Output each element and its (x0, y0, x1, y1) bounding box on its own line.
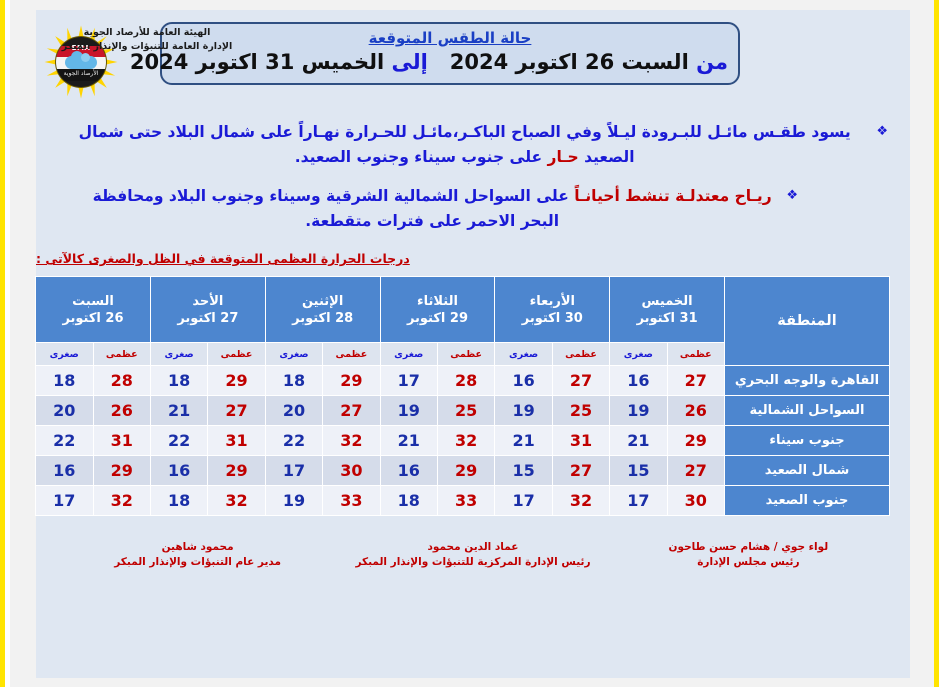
max-temp-cell: 27 (668, 456, 724, 485)
min-temp-cell: 18 (36, 366, 93, 395)
header-sub-min-2: صغرى (381, 343, 437, 365)
header-day-date: 29 اكتوبر (381, 310, 495, 327)
organization-line2: الإدارة العامة للتنبؤات والإنذار المبكر (52, 40, 242, 54)
header-day-weekday: الأحد (151, 293, 265, 310)
max-temp-cell: 29 (438, 456, 494, 485)
max-temp-cell: 26 (94, 396, 150, 425)
max-temp-cell: 28 (94, 366, 150, 395)
header-sub-max-4: عظمى (208, 343, 264, 365)
min-temp-cell: 18 (381, 486, 437, 515)
max-temp-cell: 33 (438, 486, 494, 515)
organization-line1: الهيئة العامة للأرصاد الجوية (52, 26, 242, 40)
max-temp-cell: 32 (438, 426, 494, 455)
table-head: المنطقة الخميس31 اكتوبرالأربعاء30 اكتوبر… (36, 277, 889, 365)
header-day-date: 27 اكتوبر (151, 310, 265, 327)
region-cell: القاهرة والوجه البحري (725, 366, 889, 395)
weather-bulletin-page: EMA الأرصاد الجوية حالة الطقس المتوقعة م… (0, 0, 939, 687)
min-temp-cell: 17 (36, 486, 93, 515)
from-label: من (696, 50, 728, 74)
header-day-date: 30 اكتوبر (495, 310, 609, 327)
max-temp-cell: 27 (323, 396, 379, 425)
header-day-weekday: الأربعاء (495, 293, 609, 310)
min-temp-cell: 20 (266, 396, 322, 425)
header-sub-max-1: عظمى (553, 343, 609, 365)
header-day-weekday: الثلاثاء (381, 293, 495, 310)
max-temp-cell: 29 (208, 366, 264, 395)
header-sub-min-4: صغرى (151, 343, 207, 365)
max-temp-cell: 32 (208, 486, 264, 515)
header-sub-max-0: عظمى (668, 343, 724, 365)
min-temp-cell: 18 (151, 486, 207, 515)
temperature-table: المنطقة الخميس31 اكتوبرالأربعاء30 اكتوبر… (35, 276, 890, 516)
min-temp-cell: 16 (151, 456, 207, 485)
signature-block: عماد الدين محمود رئيس الإدارة المركزية ل… (337, 540, 608, 570)
min-temp-cell: 21 (610, 426, 666, 455)
max-temp-cell: 30 (668, 486, 724, 515)
forecast-bullets: ❖ يسود طقـس مائـل للبـرودة ليـلاً وفي ال… (36, 114, 910, 234)
min-temp-cell: 15 (495, 456, 551, 485)
min-temp-cell: 21 (381, 426, 437, 455)
header-sub-max-2: عظمى (438, 343, 494, 365)
table-row: جنوب سيناء292131213221322231223122 (36, 426, 889, 455)
signature-block: محمود شاهين مدير عام التنبؤات والإنذار ا… (62, 540, 333, 570)
header-sub-min-5: صغرى (36, 343, 93, 365)
header-day-0: الخميس31 اكتوبر (610, 277, 724, 342)
min-temp-cell: 21 (495, 426, 551, 455)
header-day-1: الأربعاء30 اكتوبر (495, 277, 609, 342)
bullet-marker-icon: ❖ (876, 120, 888, 144)
header-sub-min-0: صغرى (610, 343, 666, 365)
region-cell: جنوب الصعيد (725, 486, 889, 515)
min-temp-cell: 22 (36, 426, 93, 455)
header-sub-min-3: صغرى (266, 343, 322, 365)
signature-name: محمود شاهين (62, 540, 333, 555)
min-temp-cell: 21 (151, 396, 207, 425)
max-temp-cell: 29 (208, 456, 264, 485)
max-temp-cell: 31 (208, 426, 264, 455)
min-temp-cell: 19 (381, 396, 437, 425)
bullet-text: يسود طقـس مائـل للبـرودة ليـلاً وفي الصب… (58, 120, 871, 170)
max-temp-cell: 27 (668, 366, 724, 395)
signature-block: لواء جوي / هشام حسن طاحون رئيس مجلس الإد… (613, 540, 884, 570)
max-temp-cell: 29 (323, 366, 379, 395)
max-temp-cell: 26 (668, 396, 724, 425)
min-temp-cell: 16 (36, 456, 93, 485)
header-day-3: الإثنين28 اكتوبر (266, 277, 380, 342)
signature-role: مدير عام التنبؤات والإنذار المبكر (62, 555, 333, 570)
table-header-row-days: المنطقة الخميس31 اكتوبرالأربعاء30 اكتوبر… (36, 277, 889, 342)
max-temp-cell: 28 (438, 366, 494, 395)
max-temp-cell: 30 (323, 456, 379, 485)
temperature-table-wrap: المنطقة الخميس31 اكتوبرالأربعاء30 اكتوبر… (36, 276, 910, 516)
min-temp-cell: 17 (266, 456, 322, 485)
bullet-highlight: ريـاح معتدلـة تنشط أحيانـاً (574, 187, 771, 205)
signature-role: رئيس مجلس الإدارة (613, 555, 884, 570)
min-temp-cell: 17 (495, 486, 551, 515)
signature-role: رئيس الإدارة المركزية للتنبؤات والإنذار … (337, 555, 608, 570)
date-range: من السبت 26 اكتوبر 2024 إلى الخميس 31 اك… (172, 49, 728, 75)
header: EMA الأرصاد الجوية حالة الطقس المتوقعة م… (36, 10, 910, 114)
min-temp-cell: 19 (495, 396, 551, 425)
max-temp-cell: 29 (94, 456, 150, 485)
max-temp-cell: 32 (323, 426, 379, 455)
signature-footer: لواء جوي / هشام حسن طاحون رئيس مجلس الإد… (36, 516, 910, 570)
to-label: إلى (392, 50, 428, 74)
table-row: شمال الصعيد271527152916301729162916 (36, 456, 889, 485)
header-day-date: 26 اكتوبر (36, 310, 150, 327)
max-temp-cell: 31 (553, 426, 609, 455)
max-temp-cell: 32 (553, 486, 609, 515)
max-temp-cell: 27 (208, 396, 264, 425)
bullet-item: ❖ ريـاح معتدلـة تنشط أحيانـاً على السواح… (58, 184, 888, 234)
header-day-weekday: السبت (36, 293, 150, 310)
header-sub-max-3: عظمى (323, 343, 379, 365)
header-region: المنطقة (725, 277, 889, 365)
bullet-part-2: على جنوب سيناء وجنوب الصعيد. (295, 148, 548, 166)
min-temp-cell: 16 (381, 456, 437, 485)
header-sub-min-1: صغرى (495, 343, 551, 365)
bullet-text: ريـاح معتدلـة تنشط أحيانـاً على السواحل … (83, 184, 781, 234)
min-temp-cell: 15 (610, 456, 666, 485)
max-temp-cell: 29 (668, 426, 724, 455)
max-temp-cell: 31 (94, 426, 150, 455)
emblem-caption: الأرصاد الجوية (56, 70, 106, 77)
organization-name: الهيئة العامة للأرصاد الجوية الإدارة الع… (52, 26, 242, 54)
cloud-icon (65, 56, 97, 69)
min-temp-cell: 18 (151, 366, 207, 395)
min-temp-cell: 19 (266, 486, 322, 515)
header-day-date: 28 اكتوبر (266, 310, 380, 327)
header-day-weekday: الإثنين (266, 293, 380, 310)
max-temp-cell: 25 (553, 396, 609, 425)
min-temp-cell: 16 (610, 366, 666, 395)
region-cell: السواحل الشمالية (725, 396, 889, 425)
table-note: درجات الحرارة العظمى المتوقعة في الظل وا… (36, 248, 910, 267)
min-temp-cell: 18 (266, 366, 322, 395)
bullet-part-2: على السواحل الشمالية الشرقية وسيناء وجنو… (93, 187, 575, 230)
bullet-item: ❖ يسود طقـس مائـل للبـرودة ليـلاً وفي ال… (58, 120, 888, 170)
signature-name: لواء جوي / هشام حسن طاحون (613, 540, 884, 555)
title-box: حالة الطقس المتوقعة من السبت 26 اكتوبر 2… (160, 22, 740, 85)
table-row: القاهرة والوجه البحري2716271628172918291… (36, 366, 889, 395)
min-temp-cell: 19 (610, 396, 666, 425)
signature-name: عماد الدين محمود (337, 540, 608, 555)
page-title: حالة الطقس المتوقعة (172, 28, 728, 48)
header-day-date: 31 اكتوبر (610, 310, 724, 327)
region-cell: شمال الصعيد (725, 456, 889, 485)
min-temp-cell: 20 (36, 396, 93, 425)
table-row: جنوب الصعيد301732173318331932183217 (36, 486, 889, 515)
header-day-weekday: الخميس (610, 293, 724, 310)
header-day-4: الأحد27 اكتوبر (151, 277, 265, 342)
max-temp-cell: 27 (553, 366, 609, 395)
max-temp-cell: 27 (553, 456, 609, 485)
min-temp-cell: 22 (151, 426, 207, 455)
header-day-5: السبت26 اكتوبر (36, 277, 150, 342)
max-temp-cell: 33 (323, 486, 379, 515)
min-temp-cell: 17 (381, 366, 437, 395)
bullet-marker-icon: ❖ (786, 184, 798, 208)
bullet-highlight: حـار (548, 148, 579, 166)
table-row: السواحل الشمالية261925192519272027212620 (36, 396, 889, 425)
region-cell: جنوب سيناء (725, 426, 889, 455)
min-temp-cell: 22 (266, 426, 322, 455)
min-temp-cell: 17 (610, 486, 666, 515)
header-day-2: الثلاثاء29 اكتوبر (381, 277, 495, 342)
bulletin-sheet: EMA الأرصاد الجوية حالة الطقس المتوقعة م… (36, 10, 910, 678)
max-temp-cell: 25 (438, 396, 494, 425)
max-temp-cell: 32 (94, 486, 150, 515)
from-date: السبت 26 اكتوبر 2024 (450, 50, 689, 74)
table-note-text: درجات الحرارة العظمى المتوقعة في الظل وا… (36, 251, 410, 266)
table-body: القاهرة والوجه البحري2716271628172918291… (36, 366, 889, 515)
header-sub-max-5: عظمى (94, 343, 150, 365)
min-temp-cell: 16 (495, 366, 551, 395)
